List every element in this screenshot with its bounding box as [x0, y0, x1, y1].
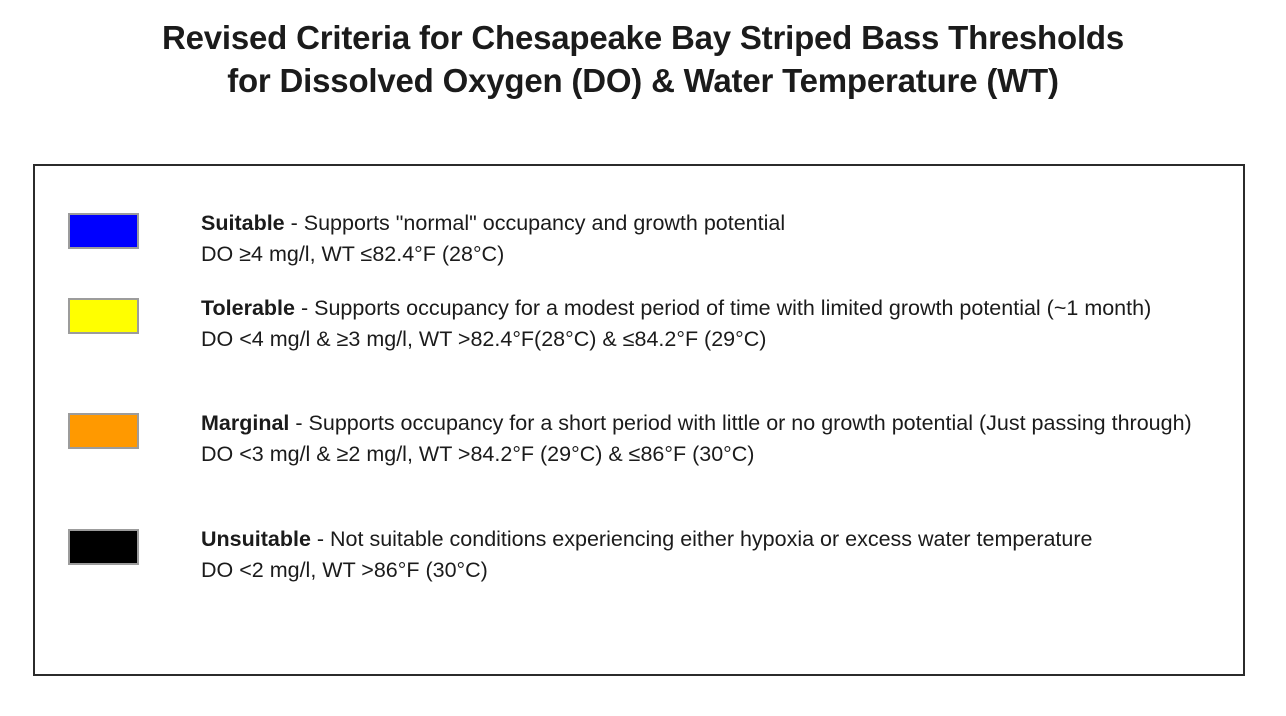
page-title-line-1: Revised Criteria for Chesapeake Bay Stri…	[0, 16, 1286, 59]
legend-entry-separator: -	[311, 527, 330, 551]
tolerable-swatch	[68, 298, 139, 334]
legend-panel: Suitable - Supports "normal" occupancy a…	[33, 164, 1245, 676]
legend-entry: Tolerable - Supports occupancy for a mod…	[68, 293, 1223, 355]
legend-entry: Suitable - Supports "normal" occupancy a…	[68, 208, 1223, 270]
legend-entry-description-line: Tolerable - Supports occupancy for a mod…	[201, 293, 1223, 324]
page-title-line-2: for Dissolved Oxygen (DO) & Water Temper…	[0, 59, 1286, 102]
legend-entry-category: Suitable	[201, 211, 285, 235]
legend-entry-separator: -	[295, 296, 314, 320]
legend-entry-description: Supports occupancy for a short period wi…	[309, 411, 1192, 435]
legend-entry-category: Marginal	[201, 411, 289, 435]
suitable-swatch	[68, 213, 139, 249]
legend-entry-category: Tolerable	[201, 296, 295, 320]
legend-entry-text: Unsuitable - Not suitable conditions exp…	[201, 524, 1223, 586]
legend-entry-conditions: DO <4 mg/l & ≥3 mg/l, WT >82.4°F(28°C) &…	[201, 324, 1223, 355]
legend-entry-conditions: DO ≥4 mg/l, WT ≤82.4°F (28°C)	[201, 239, 1223, 270]
legend-entry-description: Supports occupancy for a modest period o…	[314, 296, 1151, 320]
legend-entry-category: Unsuitable	[201, 527, 311, 551]
legend-entry-separator: -	[285, 211, 304, 235]
legend-entry: Unsuitable - Not suitable conditions exp…	[68, 524, 1223, 586]
legend-entry: Marginal - Supports occupancy for a shor…	[68, 408, 1223, 470]
legend-entry-text: Tolerable - Supports occupancy for a mod…	[201, 293, 1223, 355]
unsuitable-swatch	[68, 529, 139, 565]
legend-entry-text: Suitable - Supports "normal" occupancy a…	[201, 208, 1223, 270]
page-title: Revised Criteria for Chesapeake Bay Stri…	[0, 16, 1286, 102]
legend-entry-text: Marginal - Supports occupancy for a shor…	[201, 408, 1223, 470]
marginal-swatch	[68, 413, 139, 449]
legend-entry-description-line: Suitable - Supports "normal" occupancy a…	[201, 208, 1223, 239]
legend-entry-description-line: Marginal - Supports occupancy for a shor…	[201, 408, 1223, 439]
legend-entry-description-line: Unsuitable - Not suitable conditions exp…	[201, 524, 1223, 555]
legend-entry-separator: -	[289, 411, 308, 435]
legend-entry-description: Supports "normal" occupancy and growth p…	[304, 211, 785, 235]
legend-entry-conditions: DO <3 mg/l & ≥2 mg/l, WT >84.2°F (29°C) …	[201, 439, 1223, 470]
legend-entry-description: Not suitable conditions experiencing eit…	[330, 527, 1092, 551]
legend-entry-conditions: DO <2 mg/l, WT >86°F (30°C)	[201, 555, 1223, 586]
